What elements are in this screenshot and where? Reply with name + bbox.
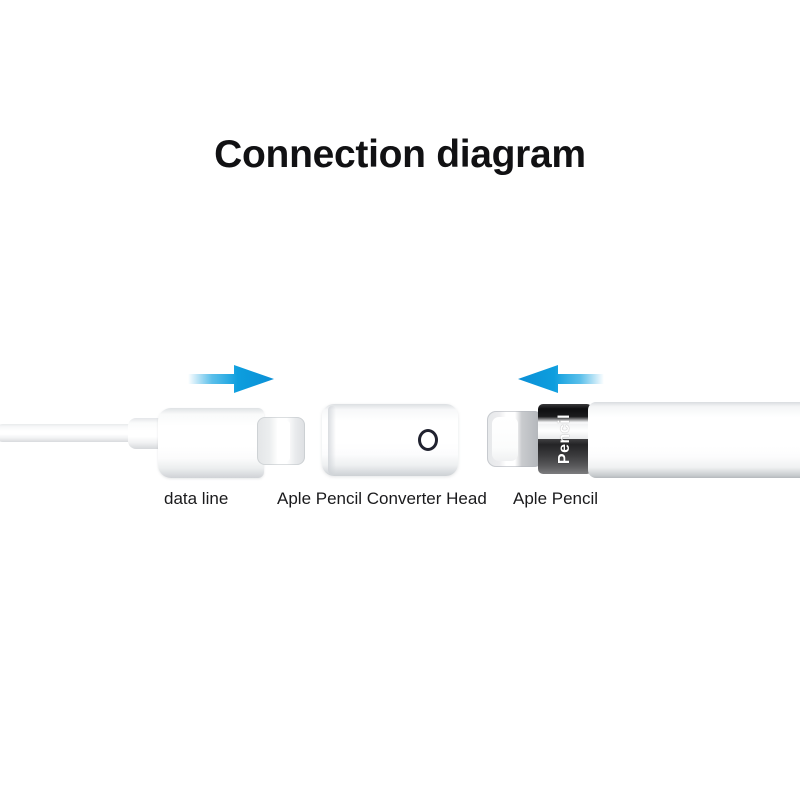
label-converter-head: Aple Pencil Converter Head <box>277 489 487 509</box>
lightning-connector-tip <box>257 417 305 465</box>
converter-seam <box>328 406 336 474</box>
pencil-lightning-connector <box>487 411 543 467</box>
arrow-right-icon <box>186 362 276 396</box>
pencil-barrel <box>588 402 800 478</box>
arrow-left-icon <box>516 362 606 396</box>
converter-head-illustration <box>322 404 458 476</box>
cable-cord <box>0 424 146 442</box>
connection-diagram-canvas: Connection diagram <box>0 0 800 800</box>
pencil-band-label: Pencil <box>556 414 574 464</box>
pencil-logo-band: Pencil <box>538 404 592 474</box>
pencil-barrel-highlight <box>588 416 800 428</box>
label-apple-pencil: Aple Pencil <box>513 489 598 509</box>
page-title: Connection diagram <box>0 131 800 179</box>
label-data-line: data line <box>164 489 228 509</box>
cable-connector-housing <box>158 408 264 478</box>
indicator-ring-icon <box>418 429 438 451</box>
